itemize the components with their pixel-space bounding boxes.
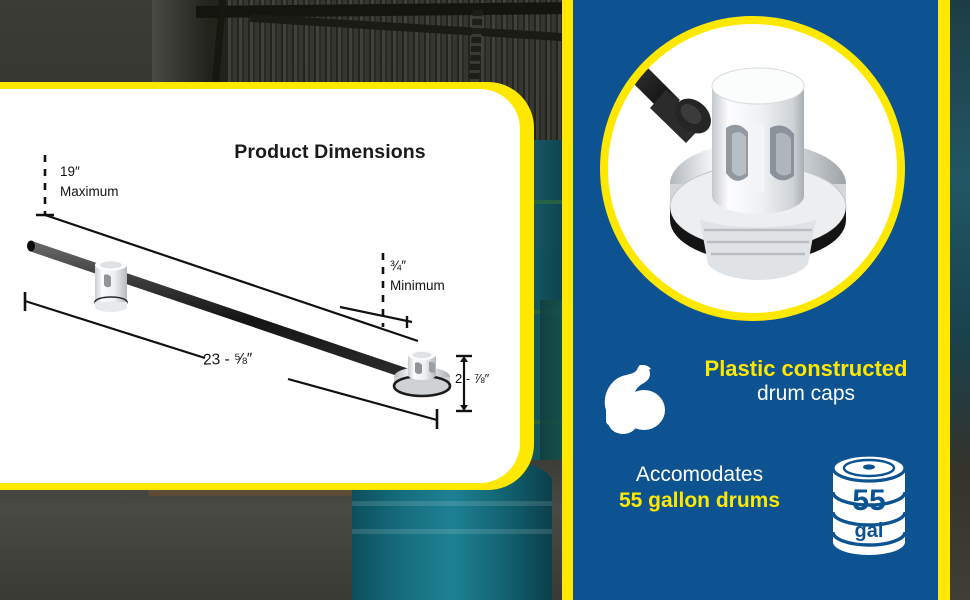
dimension-value-height-max: 19″ [60,162,119,182]
drum-icon: 55 gal [817,450,922,560]
dimension-label-bung-min: ¾″ Minimum [390,256,445,295]
feature-accommodates-drums: Accomodates 55 gallon drums 55 gal [592,452,932,562]
installation-rod [612,46,718,143]
dimension-qualifier-height-max: Maximum [60,182,119,202]
feature-drums-line1: Accomodates [592,462,807,488]
dimension-label-overall-length: 23 - ⅝″ [203,350,253,369]
drum-icon-top-label: 55 [852,484,885,517]
cap-right-graphic [394,350,450,396]
drum-icon-bottom-label: gal [855,520,884,542]
feature-drums-text: Accomodates 55 gallon drums [592,462,807,515]
feature-plastic-text: Plastic constructed drum caps [680,356,932,408]
infographic-canvas: Product Dimensions [0,0,970,600]
dimension-value-bung-min: ¾″ [390,256,445,276]
right-accent-stripe [938,0,950,600]
dimension-qualifier-bung-min: Minimum [390,276,445,296]
panel-divider-stripe [562,0,573,600]
cap-tower [712,68,804,214]
threaded-bung [700,220,816,280]
bicep-icon [592,354,676,438]
feature-plastic-line2: drum caps [680,381,932,407]
right-edge-photo-strip [950,0,970,600]
dimension-label-height-max: 19″ Maximum [60,162,119,201]
dimension-label-cap-height: 2 - ⅞″ [455,371,489,386]
product-dimension-drawing [0,89,540,483]
product-photo-graphic [608,24,897,313]
cap-left-graphic [95,260,127,313]
product-photo-circle [608,24,897,313]
feature-plastic-line1: Plastic constructed [680,356,932,381]
feature-drums-line2: 55 gallon drums [592,488,807,514]
feature-plastic-constructed: Plastic constructed drum caps [592,352,932,442]
